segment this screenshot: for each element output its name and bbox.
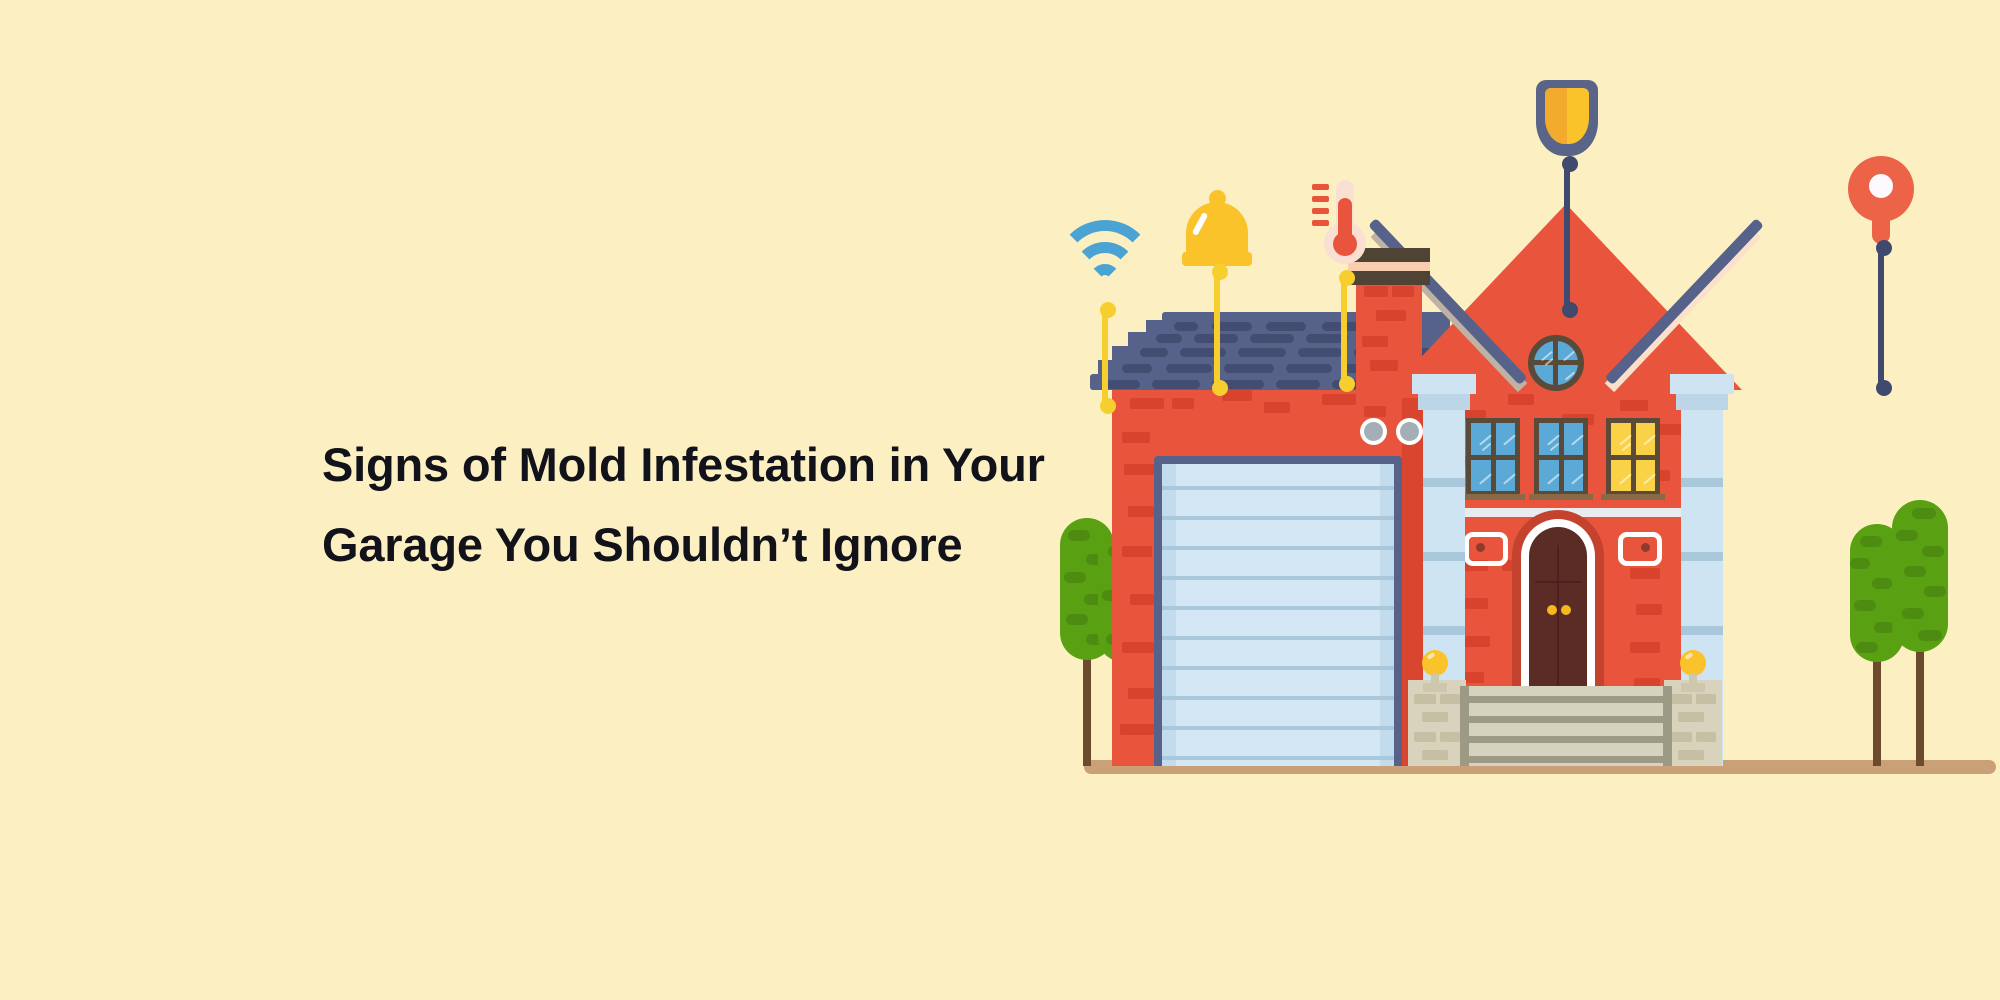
page-root: Signs of Mold Infestation in Your Garage… — [0, 0, 2000, 1000]
column-capital-right — [1670, 374, 1734, 394]
tree — [1892, 500, 1948, 766]
chimney-cap-bottom — [1348, 271, 1430, 285]
shield-icon — [1536, 80, 1598, 156]
lamp-globe — [1680, 650, 1706, 676]
column-neck-right — [1676, 394, 1728, 410]
front-door-frame — [1521, 519, 1595, 686]
garage-vent-1[interactable] — [1360, 418, 1387, 445]
column-ring — [1423, 552, 1465, 561]
page-title-line-2: Garage You Shouldn’t Ignore — [322, 505, 1182, 585]
front-door-arch — [1512, 510, 1604, 686]
shield-stem — [1564, 162, 1570, 312]
column-ring — [1681, 478, 1723, 487]
wifi-icon — [1055, 220, 1155, 282]
security-camera-left[interactable] — [1464, 532, 1508, 566]
garage-door-panel — [1162, 464, 1394, 766]
entry-stone-right — [1664, 680, 1722, 766]
lamp-globe — [1422, 650, 1448, 676]
shield-stem-end — [1562, 302, 1578, 318]
wifi-stem-end — [1100, 398, 1116, 414]
tree-trunk — [1083, 648, 1091, 766]
thermometer-icon — [1310, 180, 1366, 270]
column-ring — [1681, 626, 1723, 635]
tree-trunk — [1873, 652, 1881, 766]
column-ring — [1423, 478, 1465, 487]
lamp-post-right — [1680, 650, 1706, 692]
house-window-left — [1466, 418, 1520, 496]
lamp-post-left — [1422, 650, 1448, 692]
column-ring — [1681, 552, 1723, 561]
entry-steps — [1460, 686, 1672, 766]
security-camera-right[interactable] — [1618, 532, 1662, 566]
house-window-right — [1606, 418, 1660, 496]
pin-stem-end — [1876, 380, 1892, 396]
tree-crown — [1892, 500, 1948, 652]
page-title: Signs of Mold Infestation in Your Garage… — [322, 425, 1182, 585]
bell-icon — [1182, 190, 1252, 274]
front-door[interactable] — [1529, 527, 1587, 686]
bell-stem — [1214, 270, 1220, 388]
house-window-center — [1534, 418, 1588, 496]
hero-illustration — [1060, 80, 2000, 780]
wifi-stem-knob — [1100, 302, 1116, 318]
bell-stem-knob — [1212, 264, 1228, 280]
wifi-stem — [1102, 308, 1108, 406]
round-window — [1528, 335, 1584, 391]
window-sill — [1601, 494, 1665, 500]
window-sill — [1529, 494, 1593, 500]
page-title-line-1: Signs of Mold Infestation in Your — [322, 425, 1182, 505]
column-ring — [1423, 626, 1465, 635]
window-sill — [1461, 494, 1525, 500]
column-capital-left — [1412, 374, 1476, 394]
thermometer-stem-knob — [1339, 270, 1355, 286]
entry-stone-left — [1408, 680, 1466, 766]
pin-stem — [1878, 246, 1884, 388]
shield-stem-knob — [1562, 156, 1578, 172]
column-neck-left — [1418, 394, 1470, 410]
bell-stem-end — [1212, 380, 1228, 396]
lamp-base — [1681, 683, 1705, 692]
tree-trunk — [1916, 642, 1924, 766]
location-pin-icon — [1848, 156, 1914, 246]
thermometer-stem — [1341, 276, 1347, 384]
garage-vent-2[interactable] — [1396, 418, 1423, 445]
lamp-base — [1423, 683, 1447, 692]
thermometer-stem-end — [1339, 376, 1355, 392]
garage-door[interactable] — [1154, 456, 1402, 766]
pin-stem-knob — [1876, 240, 1892, 256]
